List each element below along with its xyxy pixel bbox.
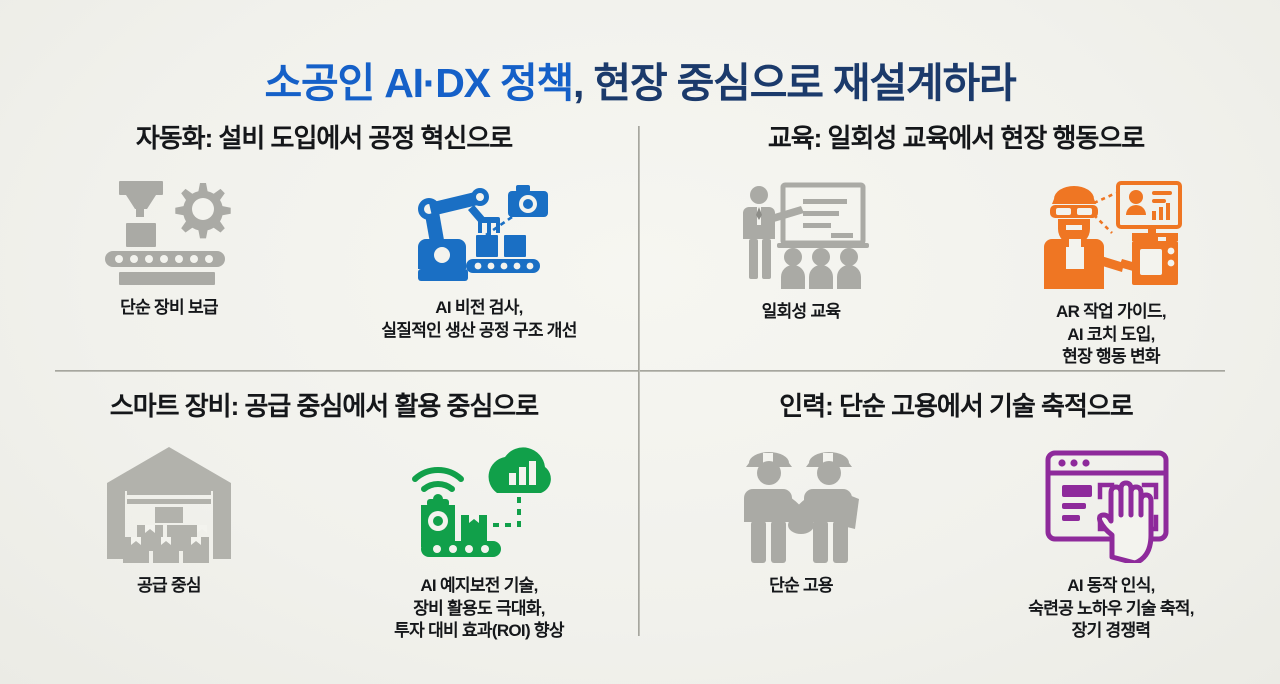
ar-worker-goggles-icon (1036, 181, 1186, 289)
quadrant-education-pair: 일회성 교육 (642, 161, 1270, 369)
infographic-stage: 소공인 AI·DX 정책, 현장 중심으로 재설계하라 자동화: 설비 도입에서… (0, 0, 1280, 684)
smart-equipment-before-caption: 공급 중심 (137, 575, 201, 598)
education-after-caption: AR 작업 가이드, AI 코치 도입, 현장 행동 변화 (1056, 301, 1166, 369)
gesture-recognition-screen-icon (1038, 445, 1184, 563)
quadrant-smart-equipment-pair: 공급 중심 (10, 429, 638, 643)
smart-equipment-after-cell: AI 예지보전 기술, 장비 활용도 극대화, 투자 대비 효과(ROI) 향상 (337, 445, 621, 643)
quadrant-education-heading: 교육: 일회성 교육에서 현장 행동으로 (642, 118, 1270, 155)
workforce-after-icon-box (1038, 445, 1184, 563)
automation-before-caption: 단순 장비 보급 (120, 297, 218, 320)
workforce-before-icon-box (731, 445, 871, 563)
automation-before-cell: 단순 장비 보급 (27, 177, 311, 320)
quadrant-automation-heading: 자동화: 설비 도입에서 공정 혁신으로 (10, 118, 638, 155)
quadrant-workforce-heading: 인력: 단순 고용에서 기술 축적으로 (642, 386, 1270, 423)
divider-horizontal (55, 370, 1225, 372)
workforce-after-caption: AI 동작 인식, 숙련공 노하우 기술 축적, 장기 경쟁력 (1028, 575, 1194, 643)
automation-after-icon-box (404, 177, 554, 285)
classroom-lecture-icon (731, 181, 871, 289)
smart-equipment-before-cell: 공급 중심 (27, 445, 311, 598)
quadrant-workforce: 인력: 단순 고용에서 기술 축적으로 (642, 386, 1270, 656)
page-title-highlight: 소공인 AI·DX 정책 (264, 60, 573, 106)
workers-handshake-icon (731, 445, 871, 563)
quadrant-smart-equipment-heading: 스마트 장비: 공급 중심에서 활용 중심으로 (10, 386, 638, 423)
iot-sensor-cloud-analytics-icon (405, 445, 553, 563)
workforce-before-cell: 단순 고용 (659, 445, 943, 598)
smart-equipment-after-caption: AI 예지보전 기술, 장비 활용도 극대화, 투자 대비 효과(ROI) 향상 (394, 575, 564, 643)
quadrant-workforce-pair: 단순 고용 (642, 429, 1270, 643)
education-before-cell: 일회성 교육 (659, 177, 943, 324)
page-title: 소공인 AI·DX 정책, 현장 중심으로 재설계하라 (0, 61, 1280, 106)
divider-vertical (638, 126, 640, 636)
education-after-icon-box (1036, 177, 1186, 289)
page-title-rest: , 현장 중심으로 재설계하라 (573, 60, 1015, 106)
quadrant-automation-pair: 단순 장비 보급 (10, 161, 638, 342)
robot-arm-vision-camera-icon (404, 177, 554, 285)
quadrant-smart-equipment: 스마트 장비: 공급 중심에서 활용 중심으로 (10, 386, 638, 656)
warehouse-boxes-icon (103, 445, 235, 563)
education-before-icon-box (731, 177, 871, 289)
education-before-caption: 일회성 교육 (762, 301, 841, 324)
automation-after-cell: AI 비전 검사, 실질적인 생산 공정 구조 개선 (337, 177, 621, 342)
education-after-cell: AR 작업 가이드, AI 코치 도입, 현장 행동 변화 (969, 177, 1253, 369)
workforce-after-cell: AI 동작 인식, 숙련공 노하우 기술 축적, 장기 경쟁력 (969, 445, 1253, 643)
automation-before-icon-box (99, 177, 239, 285)
automation-after-caption: AI 비전 검사, 실질적인 생산 공정 구조 개선 (381, 297, 576, 342)
quadrant-education: 교육: 일회성 교육에서 현장 행동으로 (642, 118, 1270, 368)
workforce-before-caption: 단순 고용 (769, 575, 833, 598)
smart-equipment-before-icon-box (103, 445, 235, 563)
smart-equipment-after-icon-box (405, 445, 553, 563)
stamping-press-conveyor-icon (99, 177, 239, 285)
quadrant-automation: 자동화: 설비 도입에서 공정 혁신으로 (10, 118, 638, 368)
